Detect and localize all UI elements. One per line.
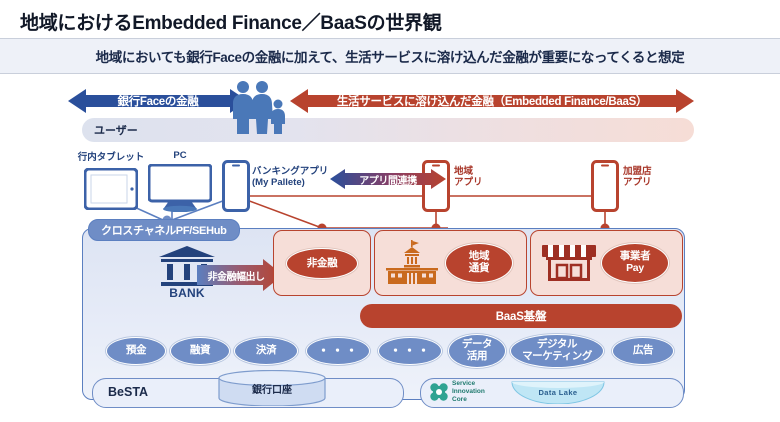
merchant-app-label-line1: 加盟店 — [623, 166, 652, 177]
non-financial-expansion-label: 非金融幅出し — [197, 259, 275, 291]
service-chip[interactable]: 融資 — [170, 337, 230, 365]
device-banking-app[interactable] — [222, 160, 250, 212]
service-chip-label: 融資 — [190, 345, 210, 357]
service-chip-label: ・・・ — [317, 344, 359, 358]
service-chip-label: 預金 — [126, 345, 146, 357]
service-chip-label: デジタル — [537, 338, 577, 350]
sic-line-3: Core — [452, 396, 467, 403]
merchant-app-label-line2: アプリ — [623, 177, 652, 188]
device-pc[interactable] — [148, 164, 212, 212]
service-chip-label: 活用 — [467, 350, 487, 362]
service-chip[interactable]: ・・・ — [378, 337, 442, 365]
device-tablet-label: 行内タブレット — [66, 152, 156, 163]
device-pc-label: PC — [150, 150, 210, 161]
device-merchant-app[interactable] — [591, 160, 619, 212]
banking-app-label-line1: バンキングアプリ — [252, 166, 328, 177]
smartphone-icon — [222, 160, 250, 212]
service-chip[interactable]: 広告 — [612, 337, 674, 365]
subtitle-divider — [0, 73, 780, 74]
user-label: ユーザー — [94, 118, 138, 142]
regional-app-label-line2: アプリ — [454, 177, 483, 188]
service-chip-label: 広告 — [633, 345, 653, 357]
service-chip-label: マーケティング — [522, 350, 592, 362]
user-gradient-bar — [82, 118, 694, 142]
service-chip[interactable]: データ活用 — [448, 334, 506, 368]
pill-regional-currency: 地域 通貨 — [445, 243, 513, 283]
device-regional-app-label: 地域 アプリ — [454, 166, 504, 188]
pill-merchant-pay-line2: Pay — [626, 262, 644, 274]
regional-app-label-line1: 地域 — [454, 166, 473, 177]
pill-regional-currency-line2: 通貨 — [469, 262, 489, 274]
baas-platform-bar: BaaS基盤 — [360, 304, 682, 328]
smartphone-icon — [591, 160, 619, 212]
service-chip-label: 決済 — [256, 345, 276, 357]
besta-label: BeSTA — [108, 378, 148, 406]
device-merchant-app-label: 加盟店 アプリ — [623, 166, 683, 188]
service-chip[interactable]: 預金 — [106, 337, 166, 365]
sic-line-1: Service — [452, 380, 475, 387]
service-innovation-core-text: Service Innovation Core — [452, 380, 485, 404]
desktop-pc-icon — [148, 164, 212, 212]
page-subtitle: 地域においても銀行Faceの金融に加えて、生活サービスに溶け込んだ金融が重要にな… — [0, 39, 780, 73]
device-banking-app-label: バンキングアプリ (My Pallete) — [252, 166, 332, 188]
clover-logo-icon — [429, 382, 449, 402]
service-chip-label: データ — [462, 338, 492, 350]
banking-app-label-line2: (My Pallete) — [252, 177, 305, 188]
government-building-icon — [386, 240, 438, 284]
device-tablet[interactable] — [84, 168, 138, 210]
bank-face-finance-label: 銀行Faceの金融 — [68, 88, 248, 114]
sic-line-2: Innovation — [452, 388, 485, 395]
service-chip[interactable]: 決済 — [234, 337, 298, 365]
pill-non-financial: 非金融 — [286, 248, 358, 279]
service-chip[interactable]: デジタルマーケティング — [510, 334, 604, 368]
pill-merchant-pay: 事業者 Pay — [601, 243, 669, 283]
tablet-icon — [84, 168, 138, 210]
family-icon — [228, 80, 290, 134]
app-link-label: アプリ間連携 — [330, 168, 446, 190]
bank-face-finance-arrow: 銀行Faceの金融 — [68, 88, 248, 114]
pill-merchant-pay-line1: 事業者 — [620, 250, 651, 262]
bank-account-label: 銀行口座 — [218, 370, 326, 406]
embedded-finance-arrow: 生活サービスに溶け込んだ金融（Embedded Finance/BaaS） — [290, 88, 694, 114]
pill-regional-currency-line1: 地域 — [469, 250, 489, 262]
service-chip-label: ・・・ — [389, 344, 431, 358]
data-lake-label: Data Lake — [510, 380, 606, 404]
cross-channel-platform-header: クロスチャネルPF/SEHub — [88, 219, 240, 241]
page-title: 地域におけるEmbedded Finance／BaaSの世界観 — [20, 8, 760, 35]
service-chip[interactable]: ・・・ — [306, 337, 370, 365]
embedded-finance-label: 生活サービスに溶け込んだ金融（Embedded Finance/BaaS） — [290, 88, 694, 114]
storefront-icon — [542, 245, 596, 281]
